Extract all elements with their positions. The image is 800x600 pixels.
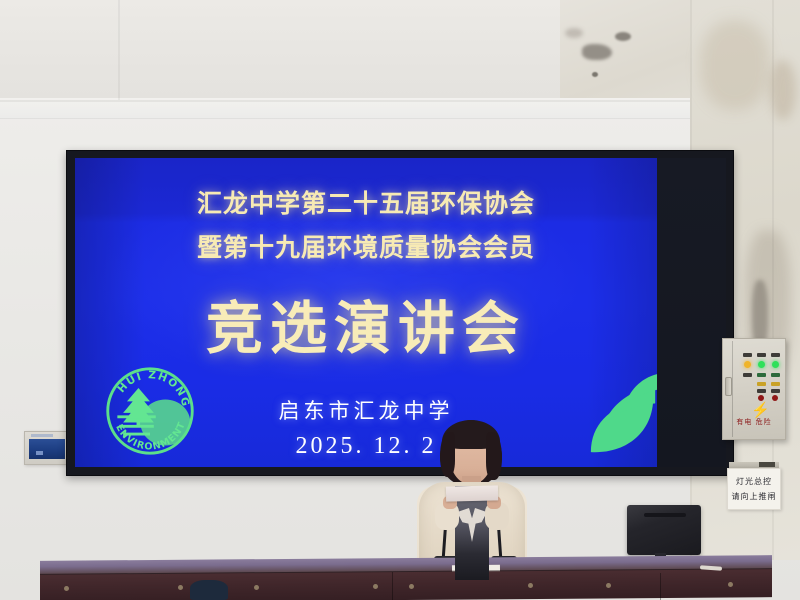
speaker-hair-left — [440, 432, 455, 477]
electrical-control-cabinet[interactable]: ⚡ 有电 危险 — [722, 338, 786, 440]
screen-heading-line1: 汇龙中学第二十五届环保协会 — [75, 184, 657, 220]
desk-panel-seam-2 — [660, 573, 661, 600]
photo-scene: HUI ZHONG ENVIRONMENT — [0, 0, 800, 600]
desk-knob-5 — [409, 584, 414, 589]
foreground-object — [190, 580, 228, 600]
desk-knob-3 — [254, 585, 259, 590]
indicator-lamp-green-1 — [758, 361, 765, 368]
screen-heading-line2: 暨第十九届环境质量协会会员 — [75, 228, 657, 264]
cabinet-switch-6[interactable] — [771, 373, 780, 377]
cabinet-switch-5[interactable] — [757, 373, 766, 377]
lighting-control-sign: 灯光总控 请向上推闸 — [727, 468, 781, 510]
indicator-lamp-green-2 — [772, 361, 779, 368]
cabinet-handle[interactable] — [725, 377, 732, 396]
speaker-hair-right — [486, 432, 502, 480]
cabinet-button-red-2[interactable] — [772, 395, 778, 401]
desk-knob-1 — [64, 586, 69, 591]
lightning-bolt-icon: ⚡ — [751, 403, 770, 418]
wall-display-panel[interactable] — [24, 431, 70, 465]
led-screen-text: 汇龙中学第二十五届环保协会 暨第十九届环境质量协会会员 竞选演讲会 启东市汇龙中… — [75, 158, 657, 467]
wall-seam-line — [0, 100, 800, 102]
desk-knob-7 — [606, 583, 611, 588]
cabinet-switch-3[interactable] — [771, 353, 780, 357]
cabinet-switch-8[interactable] — [771, 382, 780, 386]
screen-main-title: 竞选演讲会 — [75, 283, 657, 365]
cabinet-switch-2[interactable] — [757, 353, 766, 357]
desk-knob-4 — [373, 584, 378, 589]
presenter-desk-front — [40, 569, 772, 600]
cabinet-switch-1[interactable] — [743, 353, 752, 357]
led-display-inner: HUI ZHONG ENVIRONMENT — [75, 158, 726, 467]
cabinet-switch-9[interactable] — [757, 389, 766, 393]
electrical-warning-label: 有电 危险 — [723, 417, 785, 427]
monitor-vent — [644, 513, 686, 517]
cabinet-switch-7[interactable] — [757, 382, 766, 386]
indicator-lamp-yellow — [744, 361, 751, 368]
screen-school-name: 启东市汇龙中学 — [75, 395, 657, 425]
wall-panel-top-strip — [31, 434, 53, 437]
led-display-panel: HUI ZHONG ENVIRONMENT — [75, 158, 657, 467]
sign-mount-strip-dark — [759, 462, 775, 467]
desk-panel-seam-1 — [392, 572, 393, 600]
student-speaker — [407, 420, 539, 580]
speech-paper — [446, 485, 498, 501]
wall-panel-screen — [29, 439, 65, 459]
screen-date: 2025. 12. 2 — [75, 433, 657, 460]
sign-line-1: 灯光总控 — [736, 476, 772, 487]
desk-knob-2 — [178, 585, 183, 590]
wall-panel-indicator — [36, 451, 43, 455]
sign-line-2: 请向上推闸 — [732, 491, 777, 502]
cabinet-switch-10[interactable] — [771, 389, 780, 393]
desk-knob-6 — [528, 583, 533, 588]
led-display-dark-section — [657, 158, 726, 467]
desk-knob-8 — [728, 582, 733, 587]
wall-vertical-seam-upper — [118, 0, 120, 100]
cabinet-button-red-1[interactable] — [758, 395, 764, 401]
led-display-frame: HUI ZHONG ENVIRONMENT — [66, 150, 734, 476]
cabinet-switch-4[interactable] — [743, 373, 752, 377]
